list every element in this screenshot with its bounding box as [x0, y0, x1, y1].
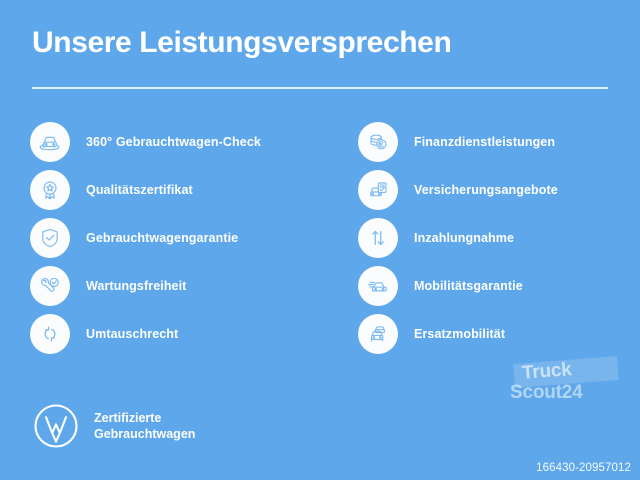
volkswagen-logo: [32, 402, 80, 450]
award-medal-icon: [30, 170, 70, 210]
feature-label: Versicherungsangebote: [414, 183, 558, 197]
feature-label: Inzahlungnahme: [414, 231, 514, 245]
two-cars-icon: [358, 314, 398, 354]
feature-column-left: 360° Gebrauchtwagen-Check Qualitätszerti…: [30, 122, 310, 362]
feature-label: Mobilitätsgarantie: [414, 279, 523, 293]
brand-line-1: Zertifizierte: [94, 411, 161, 425]
feature-column-right: Finanzdienstleistungen Versicherungsange…: [358, 122, 638, 362]
feature-item: 360° Gebrauchtwagen-Check: [30, 122, 310, 162]
feature-label: Ersatzmobilität: [414, 327, 505, 341]
truckscout24-watermark: Truck Scout24: [508, 360, 632, 412]
feature-label: Finanzdienstleistungen: [414, 135, 555, 149]
feature-item: Versicherungsangebote: [358, 170, 638, 210]
car-360-check-icon: [30, 122, 70, 162]
brand-line-2: Gebrauchtwagen: [94, 427, 195, 441]
feature-label: Gebrauchtwagengarantie: [86, 231, 238, 245]
wrench-check-icon: [30, 266, 70, 306]
brand-lockup: Zertifizierte Gebrauchtwagen: [32, 402, 195, 450]
car-motion-icon: [358, 266, 398, 306]
watermark-bottom-text: Scout24: [510, 382, 583, 404]
header-divider: [32, 87, 608, 89]
car-document-icon: [358, 170, 398, 210]
up-down-arrows-icon: [358, 218, 398, 258]
feature-item: Finanzdienstleistungen: [358, 122, 638, 162]
image-id-label: 166430-20957012: [536, 462, 631, 474]
feature-label: Qualitätszertifikat: [86, 183, 193, 197]
feature-item: Umtauschrecht: [30, 314, 310, 354]
page-title: Unsere Leistungsversprechen: [32, 26, 451, 60]
feature-label: Umtauschrecht: [86, 327, 178, 341]
slide-canvas: Unsere Leistungsversprechen 360° Gebrauc…: [0, 0, 640, 480]
feature-item: Ersatzmobilität: [358, 314, 638, 354]
feature-label: 360° Gebrauchtwagen-Check: [86, 135, 261, 149]
feature-item: Mobilitätsgarantie: [358, 266, 638, 306]
watermark-top-text: Truck: [521, 359, 572, 385]
feature-item: Wartungsfreiheit: [30, 266, 310, 306]
shield-check-icon: [30, 218, 70, 258]
feature-item: Inzahlungnahme: [358, 218, 638, 258]
exchange-arrows-icon: [30, 314, 70, 354]
feature-item: Qualitätszertifikat: [30, 170, 310, 210]
feature-label: Wartungsfreiheit: [86, 279, 186, 293]
coins-euro-icon: [358, 122, 398, 162]
brand-text: Zertifizierte Gebrauchtwagen: [94, 410, 195, 442]
feature-item: Gebrauchtwagengarantie: [30, 218, 310, 258]
